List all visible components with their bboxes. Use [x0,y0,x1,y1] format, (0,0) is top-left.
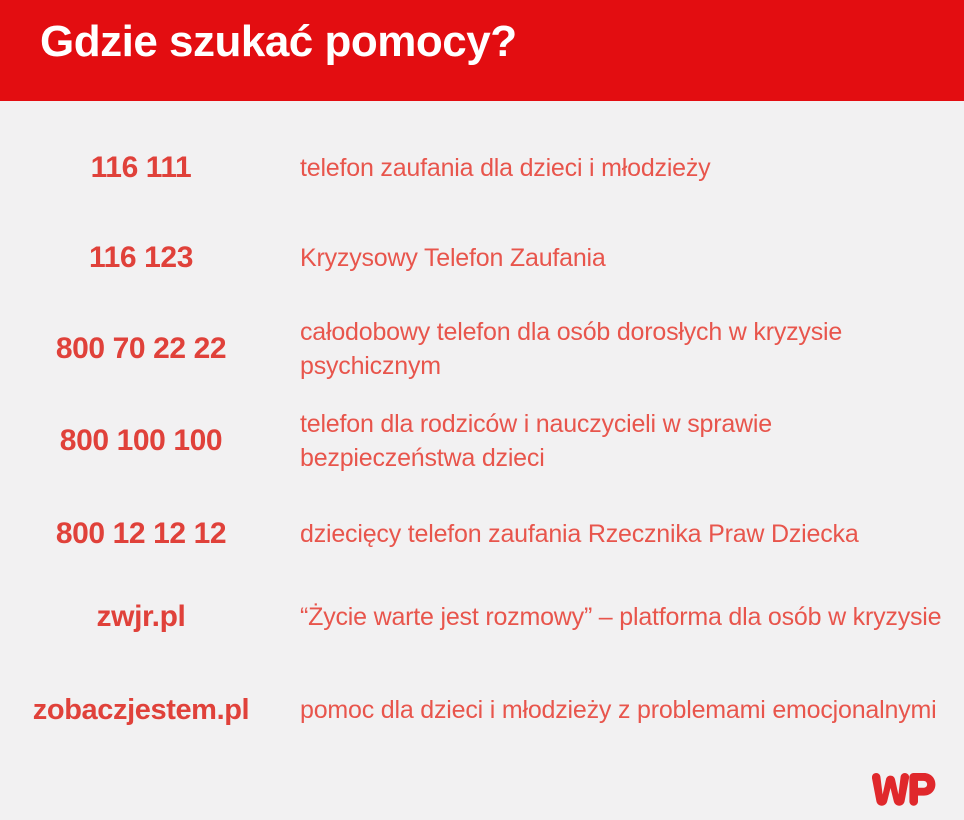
header-banner: Gdzie szukać pomocy? [0,0,964,101]
contact-description: pomoc dla dzieci i młodzieży z problemam… [282,693,964,727]
contact-number[interactable]: 116 123 [0,240,282,276]
contact-row: zobaczjestem.pl pomoc dla dzieci i młodz… [0,671,964,749]
contact-description: telefon dla rodziców i nauczycieli w spr… [282,407,964,475]
contact-row: 800 12 12 12 dziecięcy telefon zaufania … [0,504,964,564]
contact-description: telefon zaufania dla dzieci i młodzieży [282,151,964,185]
footer [0,761,964,820]
contact-link[interactable]: zwjr.pl [0,599,282,635]
contact-number[interactable]: 800 100 100 [0,423,282,459]
contact-description: całodobowy telefon dla osób dorosłych w … [282,315,964,383]
page-title: Gdzie szukać pomocy? [40,16,517,68]
contact-row: 800 100 100 telefon dla rodziców i naucz… [0,402,964,480]
contact-number[interactable]: 800 70 22 22 [0,331,282,367]
contact-description: “Życie warte jest rozmowy” – platforma d… [282,600,964,634]
contact-number[interactable]: 800 12 12 12 [0,516,282,552]
wp-logo-icon [868,767,940,811]
contact-number[interactable]: 116 111 [0,150,282,186]
contact-row: 800 70 22 22 całodobowy telefon dla osób… [0,310,964,388]
infographic-root: Gdzie szukać pomocy? 116 111 telefon zau… [0,0,964,820]
contact-row: 116 111 telefon zaufania dla dzieci i mł… [0,138,964,198]
contact-description: dziecięcy telefon zaufania Rzecznika Pra… [282,517,964,551]
contact-row: 116 123 Kryzysowy Telefon Zaufania [0,228,964,288]
contact-row: zwjr.pl “Życie warte jest rozmowy” – pla… [0,578,964,656]
contact-link[interactable]: zobaczjestem.pl [0,692,282,728]
contact-description: Kryzysowy Telefon Zaufania [282,241,964,275]
contact-list: 116 111 telefon zaufania dla dzieci i mł… [0,101,964,761]
